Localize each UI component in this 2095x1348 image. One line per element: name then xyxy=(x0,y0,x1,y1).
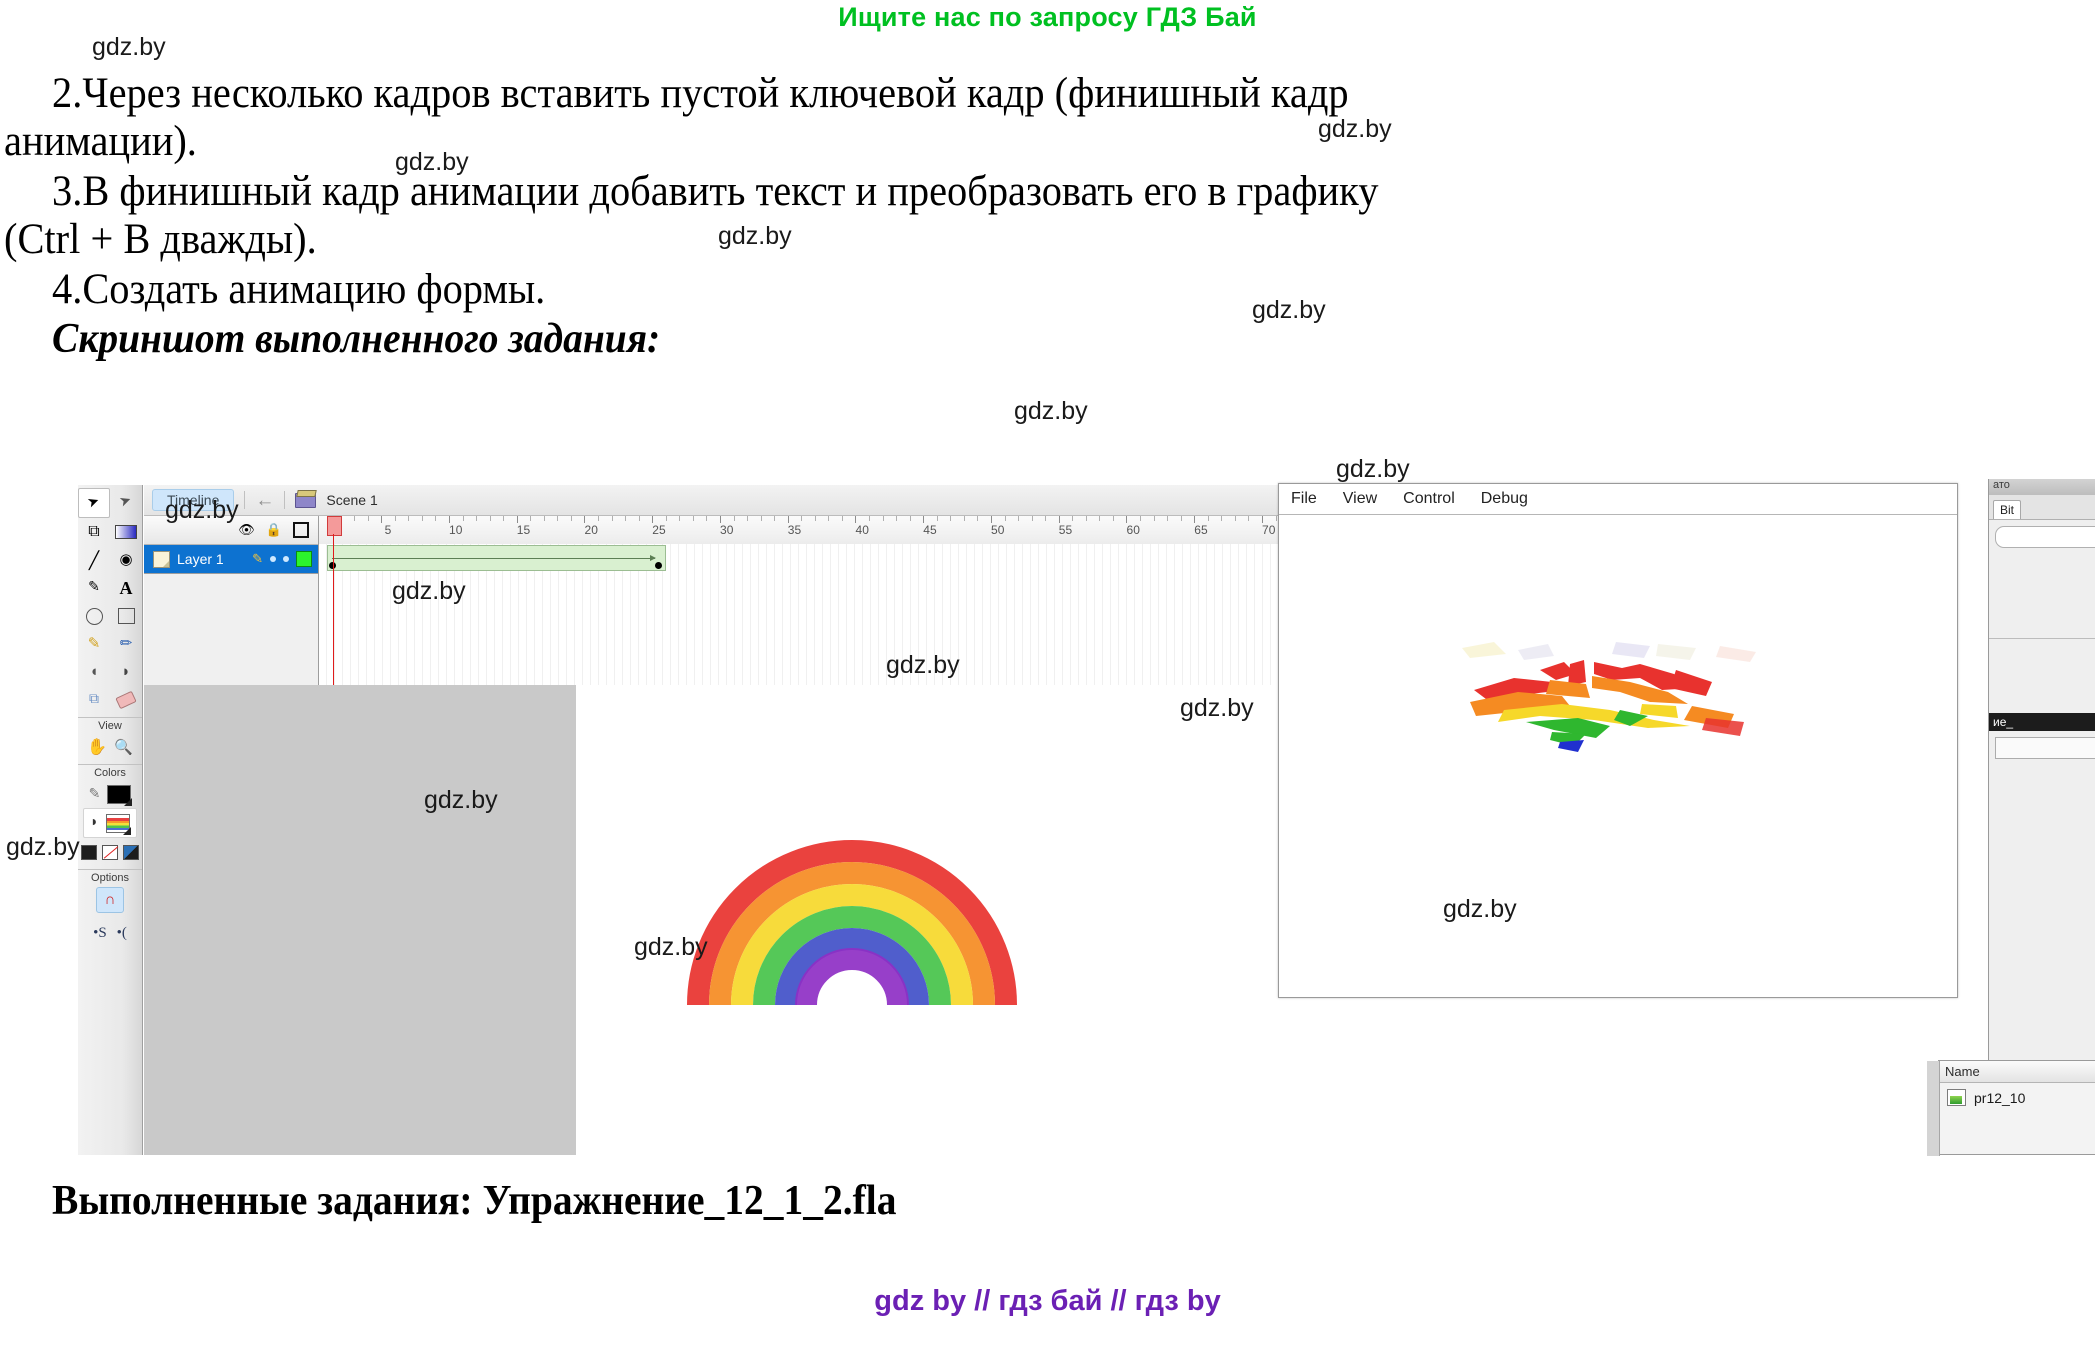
colors-section-label: Colors xyxy=(78,764,142,780)
ruler-tick xyxy=(1072,516,1073,521)
panel-dropdown[interactable] xyxy=(1995,737,2095,759)
eyedropper-tool[interactable]: ⧉ xyxy=(78,686,110,714)
ruler-number: 20 xyxy=(585,523,598,537)
ruler-tick xyxy=(1099,516,1100,521)
watermark-7: gdz.by xyxy=(165,496,239,525)
bitmap-tab[interactable]: Bit xyxy=(1993,500,2021,519)
outline-square-icon[interactable] xyxy=(293,522,309,538)
ruler-tick xyxy=(395,516,396,521)
ruler-number: 60 xyxy=(1127,523,1140,537)
screenshot-caption: Скриншот выполненного задания: xyxy=(52,318,660,361)
ruler-tick xyxy=(652,516,653,523)
eye-icon[interactable]: 👁 xyxy=(238,522,255,538)
watermark-11: gdz.by xyxy=(424,786,498,815)
ruler-tick xyxy=(1194,516,1195,523)
ruler-number: 40 xyxy=(856,523,869,537)
stroke-pencil-icon: ✎ xyxy=(89,786,101,803)
ruler-tick xyxy=(1248,516,1249,521)
ruler-tick xyxy=(1032,516,1033,521)
layer-outline-color-swatch[interactable] xyxy=(296,551,312,567)
smooth-icon[interactable]: •S xyxy=(93,925,107,942)
ruler-tick xyxy=(1140,516,1141,521)
view-tools-row: ✋ 🔍 xyxy=(78,733,142,761)
tools-grid: ➤ ➤ ⧉ ╱ ◉ ✎ A ✎ ✏ ◖ ◗ ⧉ xyxy=(78,485,142,714)
ruler-tick xyxy=(517,516,518,523)
site-banner: Ищите нас по запросу ГДЗ Бай xyxy=(0,2,2095,33)
scene-icon xyxy=(295,493,316,508)
completed-task-caption: Выполненные задания: Упражнение_12_1_2.f… xyxy=(52,1180,896,1223)
watermark-9: gdz.by xyxy=(886,651,960,680)
watermark-1: gdz.by xyxy=(1318,115,1392,144)
ruler-tick xyxy=(1059,516,1060,523)
ruler-number: 10 xyxy=(449,523,462,537)
watermark-14: gdz.by xyxy=(634,933,708,962)
ruler-tick xyxy=(1113,516,1114,521)
ruler-number: 25 xyxy=(652,523,665,537)
free-transform-tool[interactable]: ⧉ xyxy=(78,518,110,546)
ruler-tick xyxy=(964,516,965,521)
lock-icon[interactable]: 🔒 xyxy=(266,522,282,538)
watermark-3: gdz.by xyxy=(718,222,792,251)
tween-arrow-icon xyxy=(332,558,655,559)
ruler-tick xyxy=(584,516,585,523)
right-dock-panels: ато Bit ие_ xyxy=(1988,479,2095,1129)
watermark-10: gdz.by xyxy=(1180,694,1254,723)
ruler-tick xyxy=(503,516,504,521)
ruler-tick xyxy=(1018,516,1019,521)
ruler-tick xyxy=(679,516,680,521)
player-stage xyxy=(1279,515,1957,997)
ruler-tick xyxy=(463,516,464,521)
layer-lock-dot[interactable] xyxy=(283,556,289,562)
menu-control[interactable]: Control xyxy=(1403,490,1455,508)
ruler-number: 15 xyxy=(517,523,530,537)
pen-tool[interactable]: ✎ xyxy=(78,574,110,602)
ruler-tick xyxy=(801,516,802,521)
library-panel: Name pr12_10 xyxy=(1938,1060,2095,1155)
timeline-body: 👁 🔒 Layer 1 ✎ 151015202530354045505 xyxy=(144,516,1319,685)
black-and-white-icon[interactable] xyxy=(81,845,97,860)
paint-bucket-tool[interactable]: ◗ xyxy=(110,658,142,686)
view-section-label: View xyxy=(78,717,142,733)
ruler-tick xyxy=(815,516,816,521)
library-column-header[interactable]: Name xyxy=(1939,1061,2095,1083)
ruler-tick xyxy=(1276,516,1277,521)
ruler-tick xyxy=(828,516,829,521)
ruler-tick xyxy=(1221,516,1222,521)
layer-name: Layer 1 xyxy=(177,551,245,567)
shape-tween-span[interactable] xyxy=(327,545,666,571)
back-arrow-icon[interactable]: ← xyxy=(255,491,274,510)
stage-area xyxy=(144,685,1319,1155)
timeline-header: Timeline ← Scene 1 xyxy=(144,485,1319,516)
page-footer: gdz by // гдз бай // гдз by xyxy=(0,1285,2095,1318)
ruler-tick xyxy=(1181,516,1182,521)
library-side-strip xyxy=(1927,1061,1940,1156)
lasso-tool[interactable]: ◉ xyxy=(110,546,142,574)
task-line-4: 4.Создать анимацию формы. xyxy=(52,268,545,312)
ruler-number: 5 xyxy=(385,523,392,537)
ruler-number: 45 xyxy=(923,523,936,537)
ruler-tick xyxy=(625,516,626,521)
document-page: Ищите нас по запросу ГДЗ Бай 2.Через нес… xyxy=(0,0,2095,1348)
ruler-tick xyxy=(435,516,436,521)
hand-tool[interactable]: ✋ xyxy=(87,737,107,757)
snap-to-objects-magnet-icon[interactable]: ∩ xyxy=(96,887,124,913)
selection-tool[interactable]: ➤ xyxy=(78,488,110,518)
header-divider-2 xyxy=(284,491,285,509)
ruler-tick xyxy=(544,516,545,521)
ruler-tick xyxy=(896,516,897,521)
task-line-2b: анимации). xyxy=(4,120,197,164)
watermark-12: gdz.by xyxy=(6,833,80,862)
panel-dark-label: ие_ xyxy=(1989,713,2095,731)
ruler-tick xyxy=(977,516,978,521)
ruler-tick xyxy=(734,516,735,521)
straighten-icon[interactable]: •( xyxy=(117,925,127,942)
watermark-2: gdz.by xyxy=(395,148,469,177)
ruler-tick xyxy=(1126,516,1127,523)
panel-title-bar: ато xyxy=(1989,479,2095,495)
panel-tab-strip: Bit xyxy=(1989,495,2095,520)
ruler-tick xyxy=(842,516,843,521)
layer-visibility-dot[interactable] xyxy=(270,556,276,562)
ruler-tick xyxy=(408,516,409,521)
panel-divider-1 xyxy=(1989,638,2095,639)
ruler-tick xyxy=(557,516,558,521)
tools-panel: ➤ ➤ ⧉ ╱ ◉ ✎ A ✎ ✏ ◖ ◗ ⧉ View ✋ 🔍 xyxy=(78,485,143,1155)
scene-label[interactable]: Scene 1 xyxy=(326,492,377,508)
gradient-transform-tool[interactable] xyxy=(110,518,142,546)
panel-input-field[interactable] xyxy=(1995,526,2095,548)
stage-canvas[interactable] xyxy=(576,685,1319,1155)
menu-debug[interactable]: Debug xyxy=(1481,490,1528,508)
ruler-tick xyxy=(950,516,951,521)
layer-page-icon xyxy=(153,551,170,568)
brush-tool[interactable]: ✏ xyxy=(110,630,142,658)
ruler-number: 70 xyxy=(1262,523,1275,537)
task-line-3: 3.В финишный кадр анимации добавить текс… xyxy=(52,170,1378,214)
zoom-tool[interactable]: 🔍 xyxy=(114,738,133,757)
menu-view[interactable]: View xyxy=(1343,490,1377,508)
ruler-tick xyxy=(1154,516,1155,521)
ruler-tick xyxy=(693,516,694,521)
ruler-tick xyxy=(1235,516,1236,521)
ruler-tick xyxy=(761,516,762,521)
layer-edit-pencil-icon: ✎ xyxy=(252,551,263,567)
ruler-tick xyxy=(923,516,924,523)
header-divider xyxy=(244,491,245,509)
ruler-tick xyxy=(869,516,870,521)
flash-application-screenshot: ➤ ➤ ⧉ ╱ ◉ ✎ A ✎ ✏ ◖ ◗ ⧉ View ✋ 🔍 xyxy=(78,485,2095,1155)
stroke-color-row: ✎ xyxy=(78,780,142,808)
color-shortcut-row xyxy=(78,838,142,866)
watermark-4: gdz.by xyxy=(1252,296,1326,325)
ruler-tick xyxy=(368,516,369,521)
fill-color-swatch[interactable] xyxy=(106,814,130,833)
layer-row[interactable]: Layer 1 ✎ xyxy=(144,545,318,574)
ruler-tick xyxy=(666,516,667,521)
rectangle-tool[interactable] xyxy=(110,602,142,630)
eraser-tool[interactable] xyxy=(110,686,142,714)
shape-option-row: •S •( xyxy=(78,919,142,947)
ruler-number: 50 xyxy=(991,523,1004,537)
layers-column: 👁 🔒 Layer 1 ✎ xyxy=(144,516,319,685)
ink-bottle-tool[interactable]: ◖ xyxy=(78,658,110,686)
ruler-tick xyxy=(720,516,721,523)
ruler-tick xyxy=(855,516,856,523)
ruler-tick xyxy=(774,516,775,521)
ruler-tick xyxy=(1208,516,1209,521)
watermark-6: gdz.by xyxy=(1336,455,1410,484)
morphing-rainbow-shape xyxy=(1444,630,1774,760)
flash-player-window: File View Control Debug xyxy=(1278,483,1958,998)
library-item-name: pr12_10 xyxy=(1974,1090,2025,1106)
ruler-tick xyxy=(1086,516,1087,521)
ruler-tick xyxy=(612,516,613,521)
text-tool[interactable]: A xyxy=(110,574,142,602)
ruler-tick xyxy=(991,516,992,523)
pencil-tool[interactable]: ✎ xyxy=(78,630,110,658)
watermark-8: gdz.by xyxy=(392,577,466,606)
ruler-tick xyxy=(354,516,355,521)
player-menu-bar: File View Control Debug xyxy=(1279,484,1957,515)
watermark-5: gdz.by xyxy=(1014,397,1088,426)
ruler-number: 30 xyxy=(720,523,733,537)
task-line-3b: (Ctrl + B дважды). xyxy=(4,218,317,262)
ruler-tick xyxy=(422,516,423,521)
ruler-tick xyxy=(1045,516,1046,521)
playhead-marker[interactable] xyxy=(327,516,342,536)
ruler-tick xyxy=(381,516,382,523)
ruler-tick xyxy=(706,516,707,521)
ruler-tick xyxy=(449,516,450,523)
library-item-row[interactable]: pr12_10 xyxy=(1939,1083,2095,1106)
options-section-label: Options xyxy=(78,869,142,885)
task-line-2: 2.Через несколько кадров вставить пустой… xyxy=(52,72,1349,116)
ruler-tick xyxy=(530,516,531,521)
bitmap-icon xyxy=(1947,1089,1966,1106)
frame-grid[interactable] xyxy=(319,544,1319,685)
swap-colors-icon[interactable] xyxy=(123,845,139,860)
rainbow-artwork[interactable] xyxy=(682,835,1022,1015)
ruler-number: 65 xyxy=(1194,523,1207,537)
watermark-0: gdz.by xyxy=(92,33,166,62)
fill-bucket-icon: ◗ xyxy=(90,815,98,831)
fill-color-row: ◗ xyxy=(83,808,137,838)
watermark-13: gdz.by xyxy=(1443,895,1517,924)
ruler-tick xyxy=(1005,516,1006,521)
no-color-icon[interactable] xyxy=(102,845,118,860)
oval-tool[interactable] xyxy=(78,602,110,630)
ruler-number: 55 xyxy=(1059,523,1072,537)
ruler-tick xyxy=(639,516,640,521)
ruler-tick xyxy=(910,516,911,521)
ruler-tick xyxy=(883,516,884,521)
subselection-tool[interactable]: ➤ xyxy=(110,488,142,516)
ruler-tick xyxy=(1167,516,1168,521)
ruler-tick xyxy=(598,516,599,521)
timeline-panel: Timeline ← Scene 1 👁 🔒 Layer 1 xyxy=(144,485,1319,685)
ruler-tick xyxy=(747,516,748,521)
frames-area: 15101520253035404550556065707580 xyxy=(319,516,1319,685)
frame-ruler[interactable]: 15101520253035404550556065707580 xyxy=(319,516,1319,545)
ruler-tick xyxy=(571,516,572,521)
stroke-color-swatch[interactable] xyxy=(107,785,131,804)
menu-file[interactable]: File xyxy=(1291,490,1317,508)
ruler-tick xyxy=(490,516,491,521)
ruler-tick xyxy=(788,516,789,523)
line-tool[interactable]: ╱ xyxy=(78,546,110,574)
ruler-tick xyxy=(937,516,938,521)
ruler-tick xyxy=(476,516,477,521)
ruler-tick xyxy=(1262,516,1263,523)
ruler-number: 35 xyxy=(788,523,801,537)
